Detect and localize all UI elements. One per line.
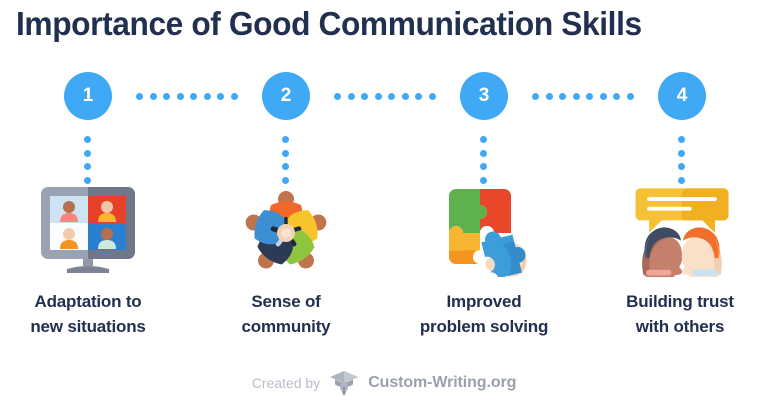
drop-dots-3 <box>480 136 487 184</box>
step-label-4-line2: with others <box>582 314 768 339</box>
step-label-1: Adaptation to new situations <box>0 289 186 339</box>
connector-dots-1-2 <box>136 93 238 100</box>
icon-slot-4 <box>622 185 742 277</box>
team-hands-together-icon <box>236 185 336 277</box>
step-rail: 1 2 3 4 <box>0 72 768 120</box>
step-label-1-line1: Adaptation to <box>0 289 186 314</box>
puzzle-piece-hand-icon <box>431 185 537 277</box>
step-circle-4[interactable]: 4 <box>658 72 706 120</box>
step-number-1: 1 <box>83 85 94 107</box>
step-label-2: Sense of community <box>188 289 384 339</box>
drop-dots-2 <box>282 136 289 184</box>
step-label-3: Improved problem solving <box>386 289 582 339</box>
two-people-speech-bubble-icon <box>622 185 742 277</box>
step-label-4: Building trust with others <box>582 289 768 339</box>
step-circle-3[interactable]: 3 <box>460 72 508 120</box>
icon-slot-1 <box>28 185 148 277</box>
icon-slot-2 <box>226 185 346 277</box>
step-label-3-line1: Improved <box>386 289 582 314</box>
step-label-4-line1: Building trust <box>582 289 768 314</box>
brand-name: Custom-Writing.org <box>368 374 516 392</box>
step-number-4: 4 <box>677 85 688 107</box>
connector-dots-3-4 <box>532 93 634 100</box>
step-label-2-line2: community <box>188 314 384 339</box>
step-label-1-line2: new situations <box>0 314 186 339</box>
icon-slot-3 <box>424 185 544 277</box>
step-number-3: 3 <box>479 85 490 107</box>
drop-dots-1 <box>84 136 91 184</box>
page-title: Importance of Good Communication Skills <box>16 4 726 44</box>
created-by-label: Created by <box>252 375 320 391</box>
drop-dots-4 <box>678 136 685 184</box>
step-label-2-line1: Sense of <box>188 289 384 314</box>
footer-credit: Created by Custom-Writing.org <box>0 370 768 396</box>
graduation-cap-pen-logo <box>329 370 359 396</box>
video-call-monitor-icon <box>33 185 143 277</box>
connector-dots-2-3 <box>334 93 436 100</box>
step-circle-1[interactable]: 1 <box>64 72 112 120</box>
step-circle-2[interactable]: 2 <box>262 72 310 120</box>
step-label-3-line2: problem solving <box>386 314 582 339</box>
step-number-2: 2 <box>281 85 292 107</box>
